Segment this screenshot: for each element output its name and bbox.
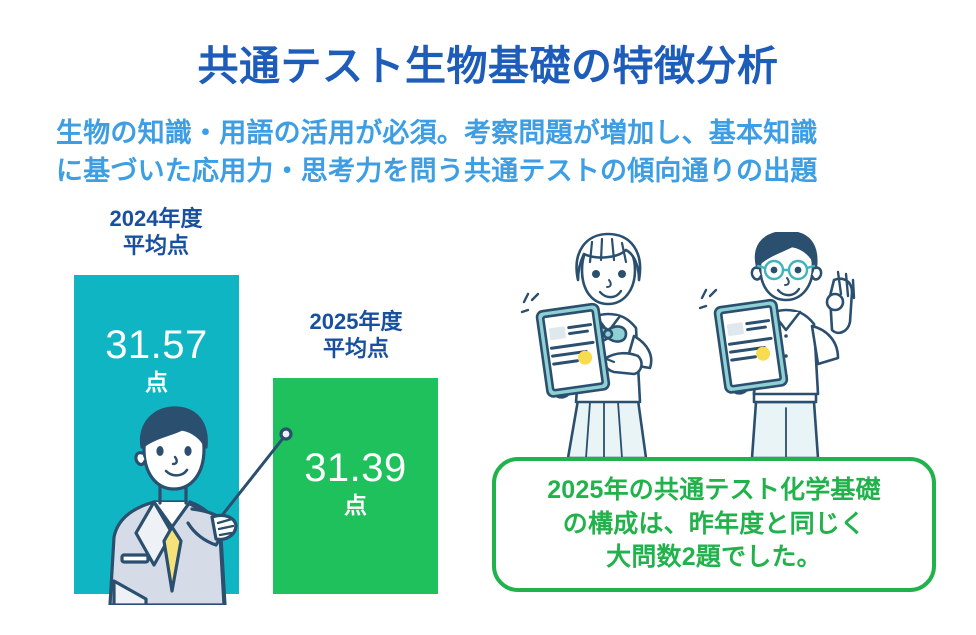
- bar-caption-2025: 2025年度 平均点: [256, 308, 456, 363]
- bar-value-2024-unit: 点: [74, 371, 239, 394]
- callout-line-2: の構成は、昨年度と同じく: [547, 508, 881, 542]
- bar-caption-2025-year: 2025年度: [256, 308, 456, 335]
- bar-caption-2024-year: 2024年度: [56, 205, 256, 232]
- callout-box: 2025年の共通テスト化学基礎 の構成は、昨年度と同じく 大問数2題でした。: [492, 457, 936, 592]
- average-score-bar-chart: 2024年度 平均点 31.57 点 2025年度 平均点 31.39 点: [0, 0, 470, 635]
- bar-value-2024: 31.57 点: [74, 325, 239, 394]
- callout-text: 2025年の共通テスト化学基礎 の構成は、昨年度と同じく 大問数2題でした。: [547, 474, 881, 575]
- callout-line-1: 2025年の共通テスト化学基礎: [547, 474, 881, 508]
- teacher-pointing-illustration: [88, 405, 298, 605]
- bar-caption-2025-metric: 平均点: [256, 335, 456, 362]
- infographic-canvas: 共通テスト生物基礎の特徴分析 生物の知識・用語の活用が必須。考察問題が増加し、基…: [0, 0, 976, 635]
- bar-value-2024-number: 31.57: [74, 325, 239, 365]
- bar-caption-2024: 2024年度 平均点: [56, 205, 256, 260]
- bar-caption-2024-metric: 平均点: [56, 232, 256, 259]
- two-students-with-tablets-illustration: [498, 232, 888, 460]
- callout-line-3: 大問数2題でした。: [547, 541, 881, 575]
